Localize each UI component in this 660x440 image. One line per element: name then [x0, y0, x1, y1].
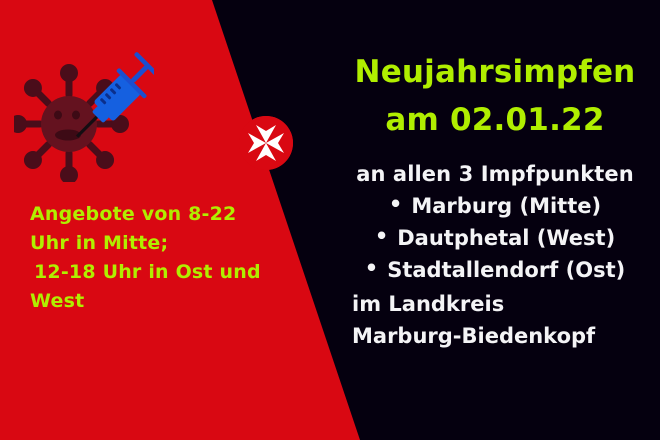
poster-canvas: Angebote von 8-22 Uhr in Mitte; 12-18 Uh…: [0, 0, 660, 440]
opening-hours-text: Angebote von 8-22 Uhr in Mitte; 12-18 Uh…: [30, 200, 295, 316]
headline: Neujahrsimpfen am 02.01.22: [330, 48, 660, 144]
district-line-1: im Landkreis: [352, 288, 660, 320]
bullet-dot-icon: •: [389, 194, 402, 215]
headline-line-2: am 02.01.22: [330, 96, 660, 144]
opening-hours-line-2: Uhr in Mitte;: [30, 229, 295, 258]
list-item: •Dautphetal (West): [330, 222, 660, 254]
vaccination-site-list: •Marburg (Mitte) •Dautphetal (West) •Sta…: [330, 190, 660, 286]
list-item-label: Marburg (Mitte): [411, 194, 601, 218]
subheadline: an allen 3 Impfpunkten: [330, 158, 660, 190]
opening-hours-line-4: West: [30, 287, 295, 316]
bullet-dot-icon: •: [375, 226, 388, 247]
headline-line-1: Neujahrsimpfen: [330, 48, 660, 96]
list-item-label: Dautphetal (West): [397, 226, 615, 250]
announcement-column: Neujahrsimpfen am 02.01.22 an allen 3 Im…: [330, 48, 660, 352]
district-text: im Landkreis Marburg-Biedenkopf: [330, 288, 660, 352]
coronavirus-with-syringe-icon: [14, 52, 154, 182]
list-item-label: Stadtallendorf (Ost): [387, 258, 625, 282]
opening-hours-line-1: Angebote von 8-22: [30, 200, 295, 229]
opening-hours-line-3: 12-18 Uhr in Ost und: [30, 258, 295, 287]
maltese-cross-icon: [239, 116, 293, 170]
bullet-dot-icon: •: [365, 258, 378, 279]
list-item: •Marburg (Mitte): [330, 190, 660, 222]
district-line-2: Marburg-Biedenkopf: [352, 320, 660, 352]
list-item: •Stadtallendorf (Ost): [330, 254, 660, 286]
